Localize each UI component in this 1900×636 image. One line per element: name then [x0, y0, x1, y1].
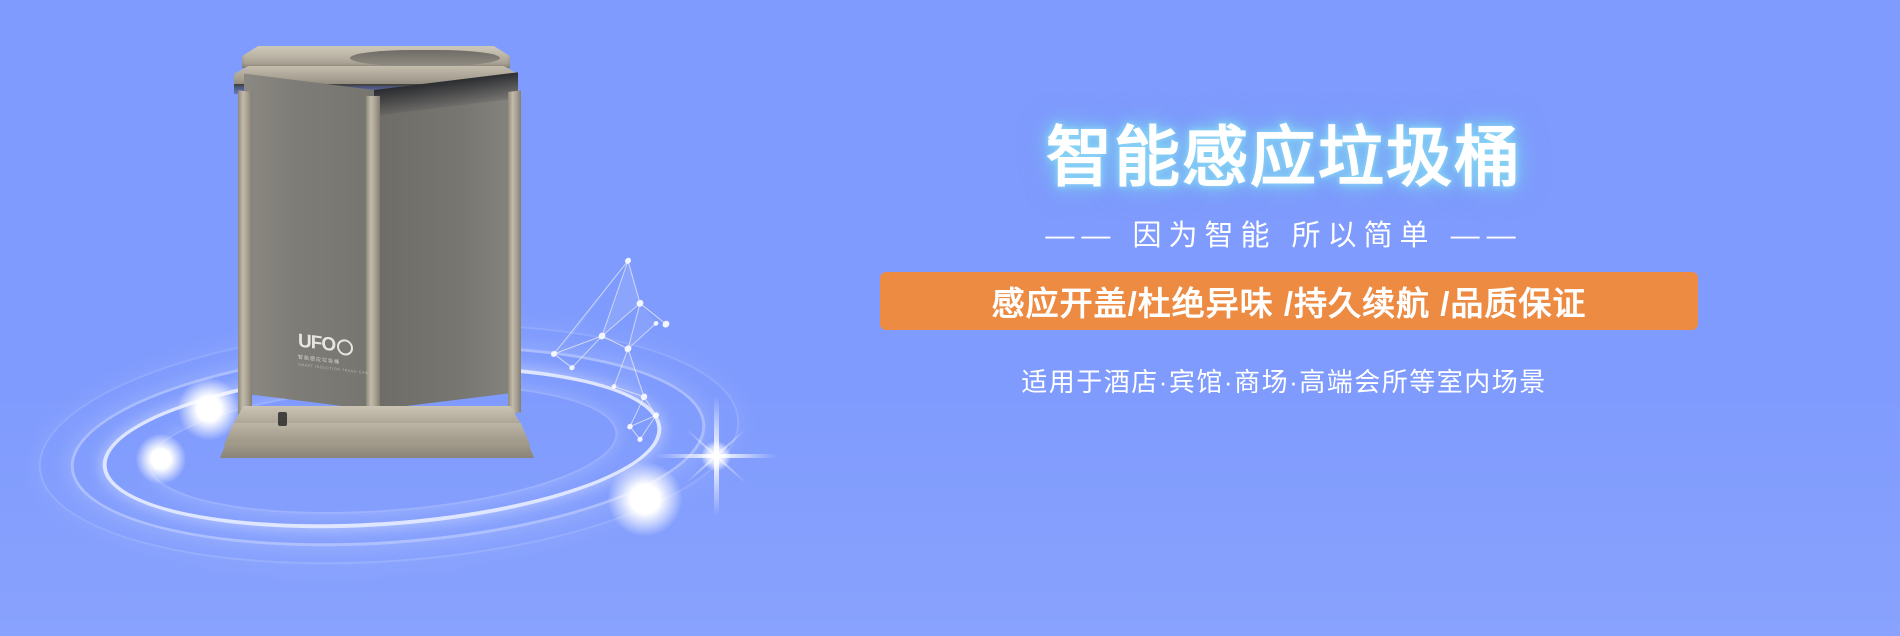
bin-lid-top — [242, 46, 510, 68]
product-image-trash-bin: UFO 智能感应垃圾桶 SMART INDUCTION TRASH CAN — [210, 40, 540, 460]
bin-corner-post-left — [238, 90, 252, 416]
feature-badge: 感应开盖/杜绝异味 /持久续航 /品质保证 — [880, 272, 1698, 330]
bin-corner-post-center — [366, 96, 380, 426]
bin-lid-opening — [350, 50, 500, 66]
headline-title: 智能感应垃圾桶 — [870, 120, 1698, 196]
sensor-slot-icon — [278, 412, 287, 426]
usage-scenarios-text: 适用于酒店·宾馆·商场·高端会所等室内场景 — [870, 362, 1698, 399]
subheadline-tagline: —— 因为智能 所以简单 —— — [870, 212, 1698, 254]
glow-dot-icon — [136, 434, 186, 484]
brand-logo-text: UFO — [298, 331, 335, 355]
feature-badge-text: 感应开盖/杜绝异味 /持久续航 /品质保证 — [992, 277, 1587, 325]
promo-banner: UFO 智能感应垃圾桶 SMART INDUCTION TRASH CAN 智能… — [0, 0, 1900, 636]
brand-logo-ring-icon — [337, 338, 353, 356]
bin-base-mid — [224, 423, 530, 445]
bin-body-right-face — [374, 72, 518, 410]
bin-base-lower — [220, 442, 534, 458]
bin-corner-post-right — [508, 90, 521, 414]
polygon-network-graphic — [544, 241, 688, 459]
marketing-copy-block: 智能感应垃圾桶 —— 因为智能 所以简单 —— 感应开盖/杜绝异味 /持久续航 … — [870, 0, 1870, 636]
product-stage: UFO 智能感应垃圾桶 SMART INDUCTION TRASH CAN — [60, 30, 800, 600]
